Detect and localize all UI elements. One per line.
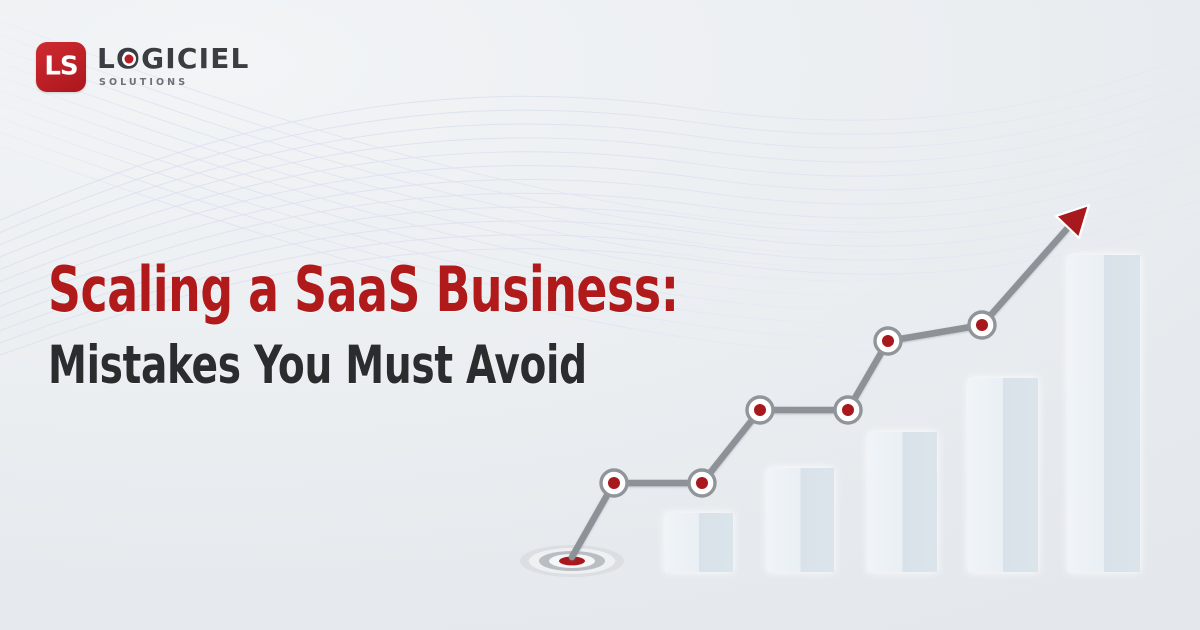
chart-bar-2 xyxy=(767,468,834,572)
page-title: Scaling a SaaS Business: Mistakes You Mu… xyxy=(48,258,868,394)
chart-marker-3 xyxy=(747,397,773,423)
banner-canvas: LS L O GICIEL SOLUTIONS Scaling a SaaS B… xyxy=(0,0,1200,630)
chart-marker-4 xyxy=(835,397,861,423)
logo-name-part-1: L xyxy=(97,45,116,73)
chart-marker-1 xyxy=(601,470,627,496)
logo-mark-ls: LS xyxy=(36,42,86,92)
bullseye-target-icon xyxy=(520,545,624,577)
headline-line-1: Scaling a SaaS Business: xyxy=(48,258,720,322)
logo-company-name: L O GICIEL xyxy=(97,45,250,73)
chart-bar-3 xyxy=(868,432,937,572)
chart-bar-4 xyxy=(968,378,1038,572)
brand-logo[interactable]: LS L O GICIEL SOLUTIONS xyxy=(36,42,250,92)
logo-wordmark: L O GICIEL SOLUTIONS xyxy=(97,42,250,88)
chart-marker-6 xyxy=(969,312,995,338)
chart-arrowhead-icon xyxy=(1056,205,1089,238)
headline-line-2: Mistakes You Must Avoid xyxy=(48,338,720,393)
logo-name-part-2: GICIEL xyxy=(141,45,250,73)
chart-bar-1 xyxy=(665,513,733,572)
logo-tagline: SOLUTIONS xyxy=(99,77,250,88)
logo-target-dot-icon xyxy=(124,55,133,64)
chart-bar-5 xyxy=(1068,255,1140,572)
chart-marker-2 xyxy=(689,470,715,496)
logo-mark-text: LS xyxy=(36,51,86,81)
logo-name-o: O xyxy=(116,45,141,73)
chart-marker-5 xyxy=(875,328,901,354)
